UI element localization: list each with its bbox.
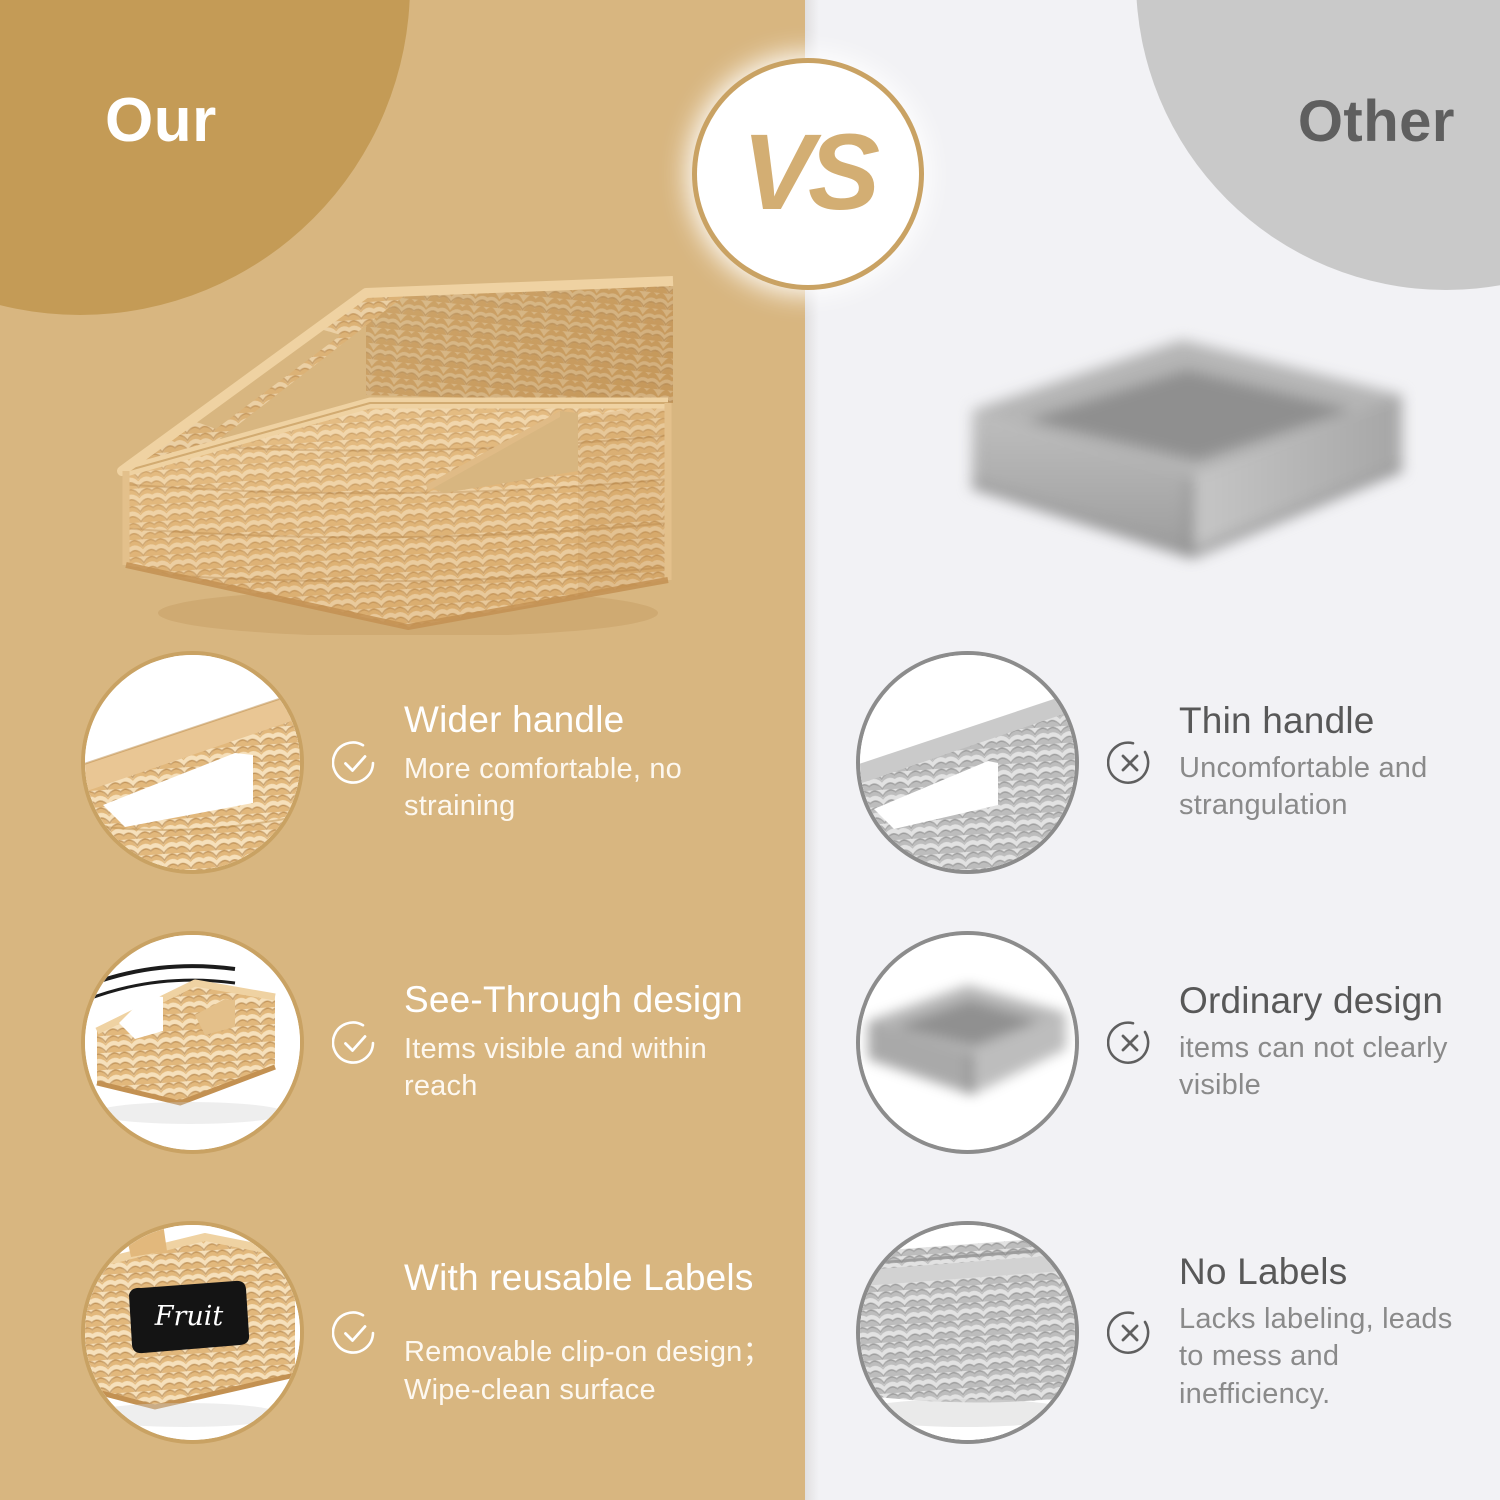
see-through-photo <box>85 935 300 1150</box>
no-labels-photo <box>860 1225 1075 1440</box>
label-basket-photo: Fruit <box>85 1225 300 1440</box>
hero-image-our-basket <box>108 235 698 635</box>
feature-subtext: items can not clearly visible <box>1179 1030 1480 1105</box>
feature-text-other-2: Ordinary design items can not clearly vi… <box>1179 980 1480 1105</box>
feature-thumb-wide-handle <box>85 655 300 870</box>
tag-text: Fruit <box>154 1301 224 1332</box>
feature-row-our-2: See-Through design Items visible and wit… <box>85 935 785 1150</box>
feature-heading: No Labels <box>1179 1251 1480 1292</box>
feature-row-other-2: Ordinary design items can not clearly vi… <box>860 935 1480 1150</box>
check-circle-icon <box>332 740 378 786</box>
feature-thumb-labels: Fruit <box>85 1225 300 1440</box>
feature-subtext: Uncomfortable and strangulation <box>1179 750 1480 825</box>
basket-illustration <box>108 235 698 635</box>
feature-heading: With reusable Labels <box>404 1255 785 1300</box>
feature-thumb-ordinary-design <box>860 935 1075 1150</box>
feature-thumb-no-labels <box>860 1225 1075 1440</box>
feature-row-other-3: No Labels Lacks labeling, leads to mess … <box>860 1225 1480 1440</box>
check-circle-icon <box>332 1310 378 1356</box>
feature-thumb-thin-handle <box>860 655 1075 870</box>
x-circle-icon <box>1107 1020 1153 1066</box>
feature-text-our-2: See-Through design Items visible and wit… <box>404 979 785 1106</box>
feature-text-other-1: Thin handle Uncomfortable and strangulat… <box>1179 700 1480 825</box>
feature-heading: Thin handle <box>1179 700 1480 741</box>
thin-handle-photo <box>860 655 1075 870</box>
feature-text-our-3: With reusable Labels Removable clip-on d… <box>404 1255 785 1410</box>
feature-text-other-3: No Labels Lacks labeling, leads to mess … <box>1179 1251 1480 1414</box>
page-title-other: Other <box>1298 88 1455 155</box>
feature-subtext: Removable clip-on design；Wipe-clean surf… <box>404 1334 785 1409</box>
feature-row-our-1: Wider handle More comfortable, no strain… <box>85 655 785 870</box>
feature-heading: Wider handle <box>404 699 785 740</box>
grey-basket-illustration <box>932 300 1432 600</box>
feature-subtext: Lacks labeling, leads to mess and ineffi… <box>1179 1301 1480 1414</box>
feature-thumb-see-through <box>85 935 300 1150</box>
check-circle-icon <box>332 1020 378 1066</box>
feature-heading: Ordinary design <box>1179 980 1480 1021</box>
feature-subtext: Items visible and within reach <box>404 1031 785 1106</box>
x-circle-icon <box>1107 1310 1153 1356</box>
feature-text-our-1: Wider handle More comfortable, no strain… <box>404 699 785 826</box>
hero-image-other-basket <box>932 300 1432 600</box>
vs-badge: VS <box>697 63 919 285</box>
feature-row-other-1: Thin handle Uncomfortable and strangulat… <box>860 655 1480 870</box>
chalkboard-tag: Fruit <box>129 1281 249 1353</box>
page-title-our: Our <box>105 85 217 156</box>
feature-heading: See-Through design <box>404 979 785 1020</box>
comparison-infographic: Our Other VS <box>0 0 1500 1500</box>
ordinary-design-photo <box>860 935 1075 1150</box>
feature-subtext: More comfortable, no straining <box>404 751 785 826</box>
vs-badge-label: VS <box>697 63 919 285</box>
wide-handle-photo <box>85 655 300 870</box>
x-circle-icon <box>1107 740 1153 786</box>
feature-row-our-3: Fruit With reusable Labels Removable cli… <box>85 1225 785 1440</box>
